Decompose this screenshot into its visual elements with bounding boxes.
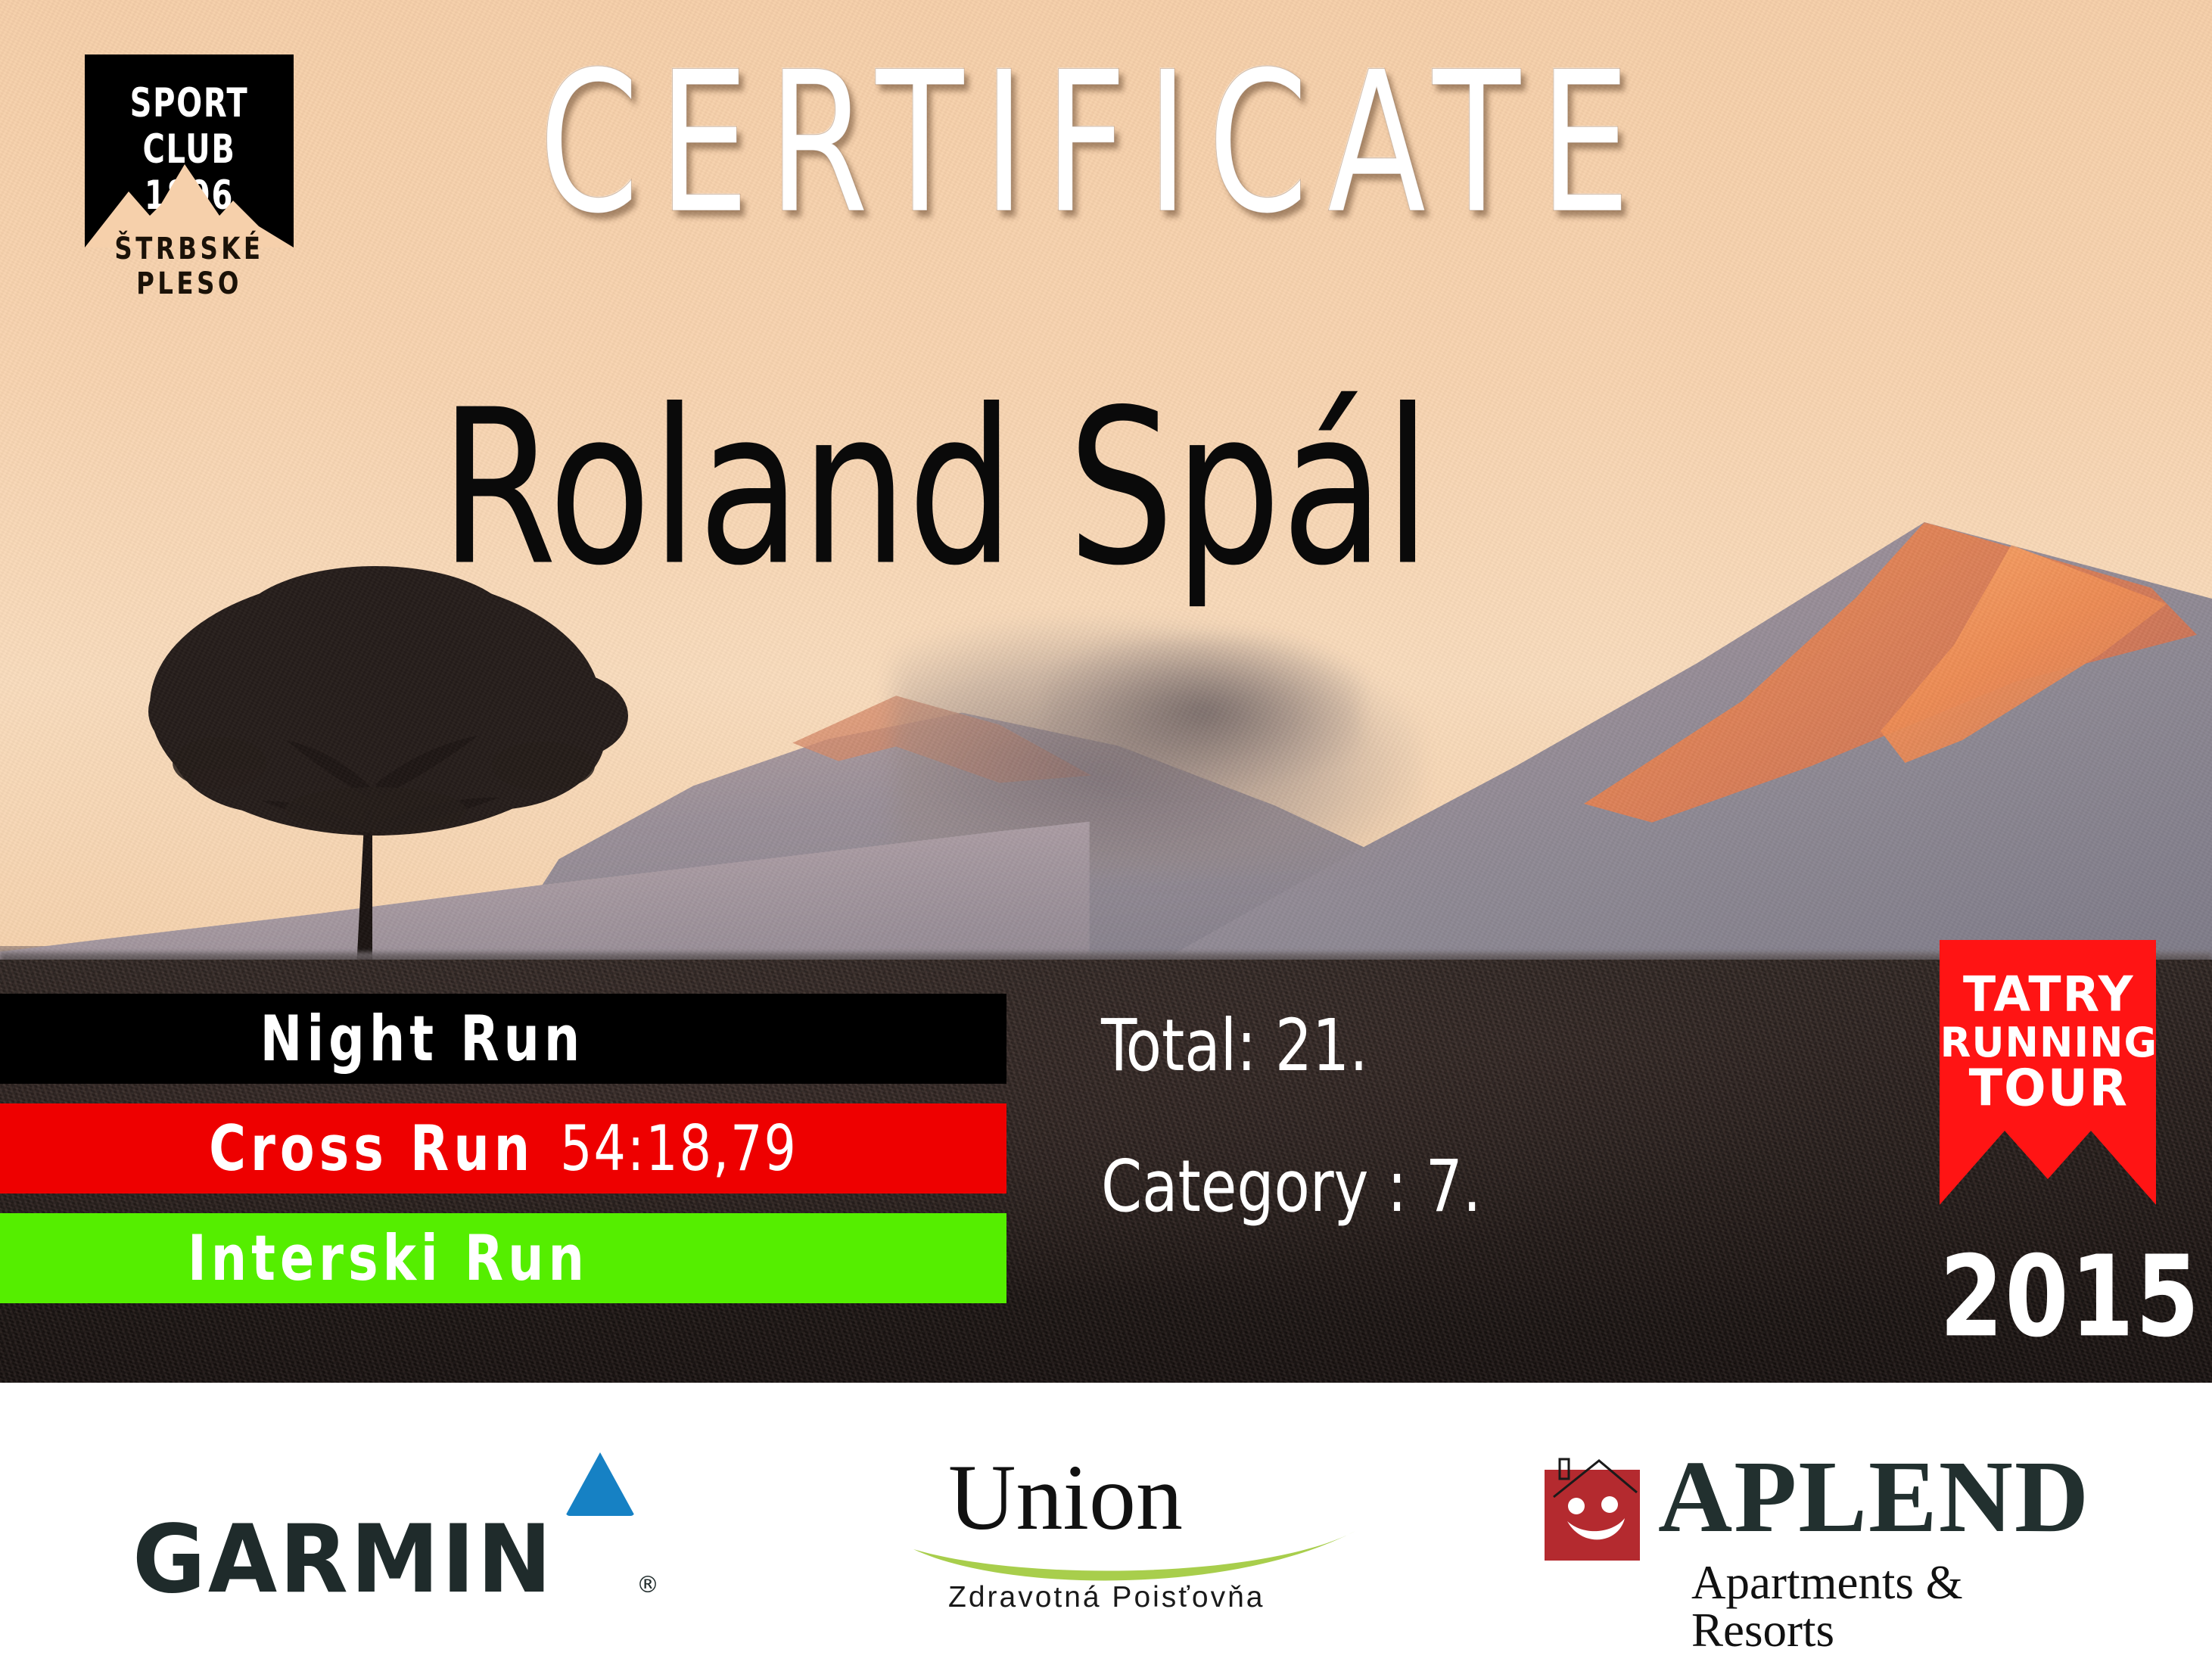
sponsor-footer: GARMIN ® Union Zdravotná Poisťovňa bbox=[0, 1383, 2212, 1665]
result-bar-label: Night Run bbox=[260, 1002, 747, 1075]
result-bar-run-name: Night Run bbox=[260, 1002, 585, 1075]
aplend-smiley-house-icon bbox=[1540, 1452, 1654, 1564]
page-title: CERTIFICATE bbox=[378, 47, 1810, 241]
aplend-wordmark: APLEND bbox=[1658, 1446, 2090, 1548]
sponsor-union-logo[interactable]: Union Zdravotná Poisťovňa bbox=[912, 1437, 1358, 1611]
result-bar-cross-run: Cross Run54:18,79 bbox=[0, 1103, 1006, 1194]
tatry-running-tour-badge: TATRY RUNNING TOUR bbox=[1940, 940, 2156, 1205]
result-bar-run-name: Cross Run bbox=[209, 1112, 534, 1184]
result-bars: Night Run Cross Run54:18,79 Interski Run bbox=[0, 994, 1006, 1303]
event-vertical-text: Night Run Sky&Clouds Run Interski Run TA… bbox=[1894, 0, 2212, 938]
total-placement: Total: 21. bbox=[1101, 1010, 1481, 1082]
result-bar-label: Interski Run bbox=[188, 1222, 819, 1294]
union-subtitle: Zdravotná Poisťovňa bbox=[948, 1583, 1265, 1612]
tree-silhouette-icon bbox=[106, 560, 651, 984]
badge-year: 2015 bbox=[1940, 1241, 2171, 1353]
result-bar-run-name: Interski Run bbox=[188, 1222, 589, 1294]
result-bar-time: 54:18,79 bbox=[560, 1112, 798, 1184]
garmin-registered-icon: ® bbox=[636, 1572, 659, 1598]
certificate-root: SPORT CLUB 1896 ŠTRBSKÉ PLESO CERTIFICAT… bbox=[0, 0, 2212, 1665]
svg-text:TATRY: TATRY bbox=[1963, 966, 2135, 1023]
sport-club-location: ŠTRBSKÉ PLESO bbox=[87, 232, 291, 301]
union-swoosh-icon bbox=[912, 1527, 1358, 1586]
category-placement: Category : 7. bbox=[1101, 1151, 1481, 1223]
garmin-triangle-icon bbox=[565, 1452, 635, 1516]
sport-club-logo-box: SPORT CLUB 1896 bbox=[85, 54, 294, 247]
svg-text:TOUR: TOUR bbox=[1969, 1059, 2129, 1118]
result-bar-night-run: Night Run bbox=[0, 994, 1006, 1084]
athlete-name: Roland Spál bbox=[22, 382, 2190, 596]
aplend-subtitle: Apartments & Resorts bbox=[1691, 1559, 2100, 1654]
totals-block: Total: 21. Category : 7. bbox=[1101, 1010, 1481, 1223]
result-bar-interski-run: Interski Run bbox=[0, 1213, 1006, 1303]
sponsor-aplend-logo[interactable]: APLEND Apartments & Resorts bbox=[1540, 1433, 2100, 1615]
garmin-wordmark: GARMIN bbox=[132, 1512, 554, 1606]
result-bar-label: Cross Run54:18,79 bbox=[209, 1112, 798, 1184]
sport-club-logo: SPORT CLUB 1896 ŠTRBSKÉ PLESO bbox=[76, 54, 303, 304]
sponsor-garmin-logo[interactable]: GARMIN ® bbox=[132, 1445, 662, 1604]
mist-plume-core bbox=[1044, 636, 1362, 787]
